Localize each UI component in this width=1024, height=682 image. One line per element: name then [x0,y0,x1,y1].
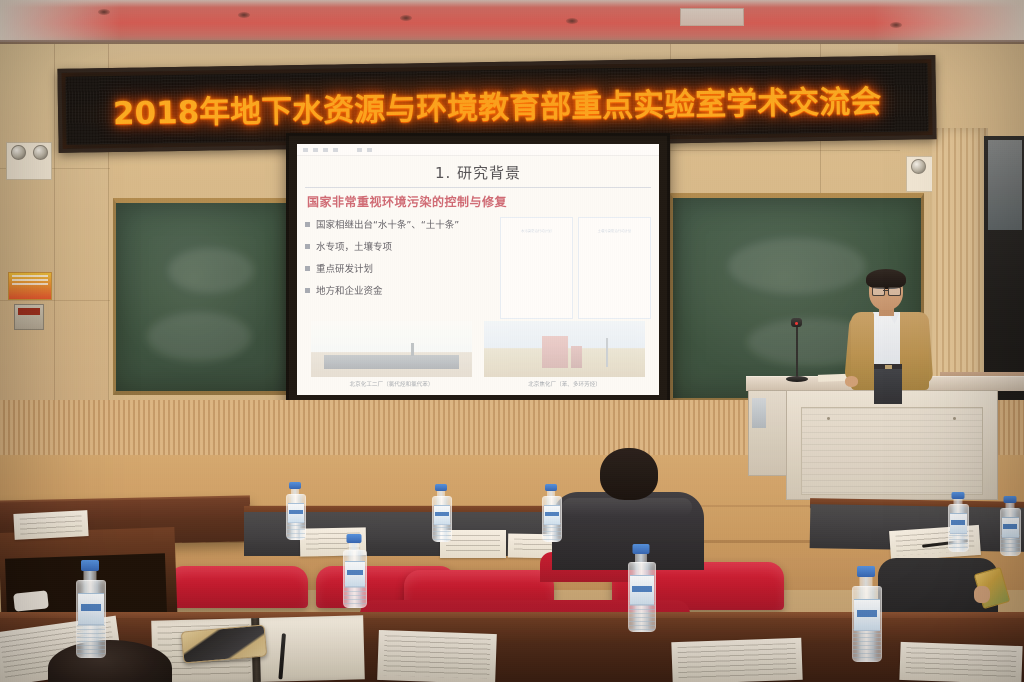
attendee-shoulder-highlight [562,498,692,516]
document-thumbnail: 土壤污染防治行动计划 [578,217,651,319]
bullet-text: 水专项，土壤专项 [316,239,392,253]
slide-photo-row: 北京化工二厂（氯代烃和氯代苯） 北京焦化厂（苯、多环芳烃） [297,319,659,407]
slide-photo-image [311,321,472,377]
emergency-lamp-icon [911,159,926,174]
water-bottle[interactable] [628,544,654,630]
wall-seam [670,150,900,151]
toolbar-dot-icon [367,148,372,152]
bullet-square-icon [305,222,310,227]
water-bottle[interactable] [1000,496,1019,554]
ceiling-right-highlight [874,0,1024,42]
podium-cabinet [786,390,998,500]
list-item: 地方和企业资金 [305,283,498,297]
presenter-hand [845,376,858,387]
slide-photo-caption: 北京化工二厂（氯代烃和氯代苯） [350,380,434,388]
paper-sheet [377,630,497,682]
projection-screen-frame: 1. 研究背景 国家非常重视环境污染的控制与修复 国家相继出台“水十条”、“土十… [286,133,670,422]
slide-photo-caption: 北京焦化厂（苯、多环芳烃） [528,380,601,388]
slide-photo-image [484,321,645,377]
paper-sheet [671,638,802,682]
list-item: 国家相继出台“水十条”、“土十条” [305,217,498,231]
water-bottle[interactable] [76,560,104,656]
powerpoint-toolbar [297,144,659,156]
blackboard-left [113,198,292,395]
water-bottle[interactable] [852,566,880,660]
bullet-square-icon [305,244,310,249]
bullet-text: 重点研发计划 [316,261,373,275]
door-glass-panel [988,140,1022,230]
glasses-bridge [883,290,888,291]
wall-seam [54,44,55,414]
emergency-lamp-icon [11,145,26,160]
fire-alarm-box[interactable] [14,304,44,330]
toolbar-dot-icon [357,148,362,152]
document-thumbnail: 水污染防治行动计划 [500,217,573,319]
list-item: 水专项，土壤专项 [305,239,498,253]
attendee-hand [974,586,990,603]
bullet-text: 地方和企业资金 [316,283,383,297]
podium-vent-panel [801,407,983,495]
water-bottle[interactable] [432,484,450,540]
water-bottle[interactable] [948,492,967,550]
bullet-square-icon [305,266,310,271]
tissue [13,590,49,611]
ceiling [0,0,1024,42]
screw-icon [953,417,956,420]
paper-sheet [13,510,88,540]
microphone-stand [796,322,798,380]
microphone-led-indicator [795,322,798,325]
slide-document-thumbnails: 水污染防治行动计划 土壤污染防治行动计划 [498,215,651,319]
slide-body: 国家相继出台“水十条”、“土十条” 水专项，土壤专项 重点研发计划 地 [297,215,659,319]
presenter-hair [866,269,906,289]
attendee-head [600,448,658,500]
toolbar-dot-icon [323,148,328,152]
downlight-icon [890,22,902,28]
screw-icon [827,417,830,420]
bullet-square-icon [305,288,310,293]
presenter-trousers [874,369,902,404]
slide-subtitle: 国家非常重视环境污染的控制与修复 [297,193,659,215]
presenter-figure [847,272,933,404]
toolbar-dot-icon [303,148,308,152]
ceiling-vent [680,8,744,26]
emergency-light-left [6,142,52,180]
downlight-icon [400,15,412,21]
ceiling-left-highlight [0,0,120,42]
bullet-text: 国家相继出台“水十条”、“土十条” [316,217,459,231]
water-bottle[interactable] [542,484,560,540]
slide-bullet-list: 国家相继出台“水十条”、“土十条” 水专项，土壤专项 重点研发计划 地 [305,215,498,319]
foreground-attendee [48,640,172,682]
chair[interactable] [168,566,308,608]
paper-sheet [899,642,1022,682]
downlight-icon [566,18,578,24]
water-bottle[interactable] [343,534,365,606]
toolbar-dot-icon [313,148,318,152]
list-item: 重点研发计划 [305,261,498,275]
water-bottle[interactable] [286,482,304,538]
emergency-lamp-icon [33,145,48,160]
glasses-icon [872,287,885,296]
slide-title: 1. 研究背景 [297,156,659,187]
podium-side-accent [752,398,766,428]
conference-room-photo: 2018年地下水资源与环境教育部重点实验室学术交流会 1. 研究背景 国家非常重… [0,0,1024,682]
safety-poster [8,272,52,300]
microphone-base [786,376,808,382]
presentation-slide: 1. 研究背景 国家非常重视环境污染的控制与修复 国家相继出台“水十条”、“土十… [297,144,659,407]
slide-title-rule [305,187,651,188]
downlight-icon [238,12,250,18]
led-banner-text: 2018年地下水资源与环境教育部重点实验室学术交流会 [113,75,882,132]
glasses-icon [888,287,901,296]
toolbar-dot-icon [333,148,338,152]
wall-seam [0,300,110,301]
attendee-head [48,640,172,682]
downlight-icon [98,9,110,15]
projection-screen: 1. 研究背景 国家非常重视环境污染的控制与修复 国家相继出台“水十条”、“土十… [297,144,659,407]
notebook-right-page [255,615,365,682]
